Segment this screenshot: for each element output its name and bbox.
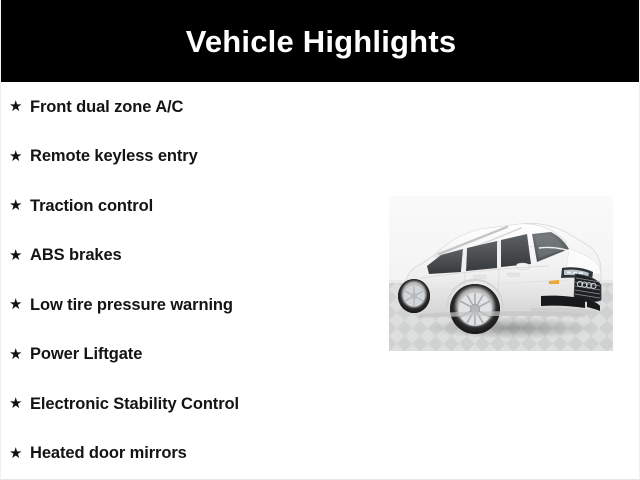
list-item: ★ ABS brakes <box>1 231 381 281</box>
vehicle-features-list: ★ Front dual zone A/C ★ Remote keyless e… <box>1 82 381 478</box>
feature-label: Low tire pressure warning <box>30 297 233 314</box>
list-item: ★ Low tire pressure warning <box>1 280 381 330</box>
list-item: ★ Heated door mirrors <box>1 429 381 479</box>
vehicle-photo <box>389 196 613 351</box>
list-item: ★ Remote keyless entry <box>1 132 381 182</box>
star-icon: ★ <box>9 248 30 263</box>
feature-label: Remote keyless entry <box>30 148 198 165</box>
list-item: ★ Electronic Stability Control <box>1 379 381 429</box>
vehicle-photo-illustration <box>389 196 613 351</box>
page-header: Vehicle Highlights <box>1 0 640 82</box>
feature-label: Heated door mirrors <box>30 445 187 462</box>
list-item: ★ Traction control <box>1 181 381 231</box>
star-icon: ★ <box>9 396 30 411</box>
star-icon: ★ <box>9 99 30 114</box>
list-item: ★ Front dual zone A/C <box>1 82 381 132</box>
feature-label: Front dual zone A/C <box>30 99 183 116</box>
star-icon: ★ <box>9 198 30 213</box>
feature-label: ABS brakes <box>30 247 122 264</box>
star-icon: ★ <box>9 149 30 164</box>
star-icon: ★ <box>9 297 30 312</box>
star-icon: ★ <box>9 347 30 362</box>
vehicle-highlights-page: Vehicle Highlights ★ Front dual zone A/C… <box>0 0 640 480</box>
list-item: ★ Power Liftgate <box>1 330 381 380</box>
feature-label: Electronic Stability Control <box>30 396 239 413</box>
feature-label: Traction control <box>30 198 153 215</box>
page-title: Vehicle Highlights <box>186 26 457 57</box>
feature-label: Power Liftgate <box>30 346 142 363</box>
star-icon: ★ <box>9 446 30 461</box>
